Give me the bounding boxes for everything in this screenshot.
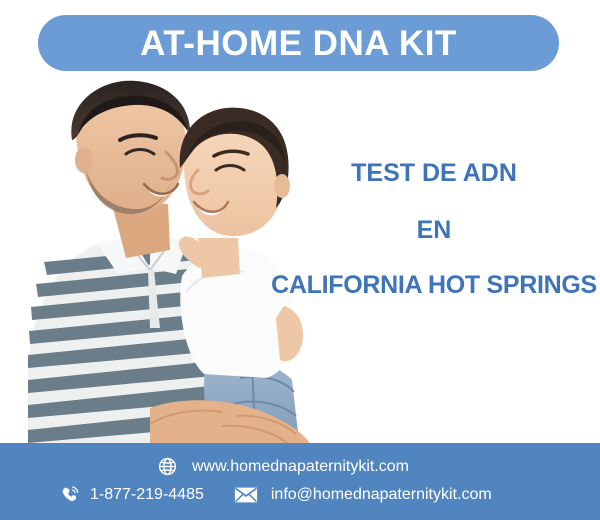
footer-website-row[interactable]: www.homednapaternitykit.com xyxy=(157,456,409,477)
headline-line-location: CALIFORNIA HOT SPRINGS xyxy=(268,272,600,299)
footer-phone-group[interactable]: 1-877-219-4485 xyxy=(60,485,204,505)
footer-email-group[interactable]: info@homednapaternitykit.com xyxy=(234,486,492,504)
globe-icon xyxy=(157,456,178,477)
headline-line-en: EN xyxy=(268,217,600,244)
headline-line-test-de-adn: TEST DE ADN xyxy=(268,160,600,187)
phone-icon xyxy=(60,485,80,505)
footer-email-text[interactable]: info@homednapaternitykit.com xyxy=(271,487,492,503)
footer-contact-row: 1-877-219-4485 info@homednapaternitykit.… xyxy=(60,485,492,505)
footer-website-text[interactable]: www.homednapaternitykit.com xyxy=(192,459,409,475)
header-banner: AT-HOME DNA KIT xyxy=(38,15,559,71)
footer-bar xyxy=(0,443,600,520)
dna-kit-promo-poster: AT-HOME DNA KIT xyxy=(0,0,600,520)
headline-block: TEST DE ADN EN CALIFORNIA HOT SPRINGS xyxy=(268,160,600,299)
page-title: AT-HOME DNA KIT xyxy=(140,26,457,61)
envelope-icon xyxy=(234,486,258,504)
footer-phone-text[interactable]: 1-877-219-4485 xyxy=(90,487,204,503)
